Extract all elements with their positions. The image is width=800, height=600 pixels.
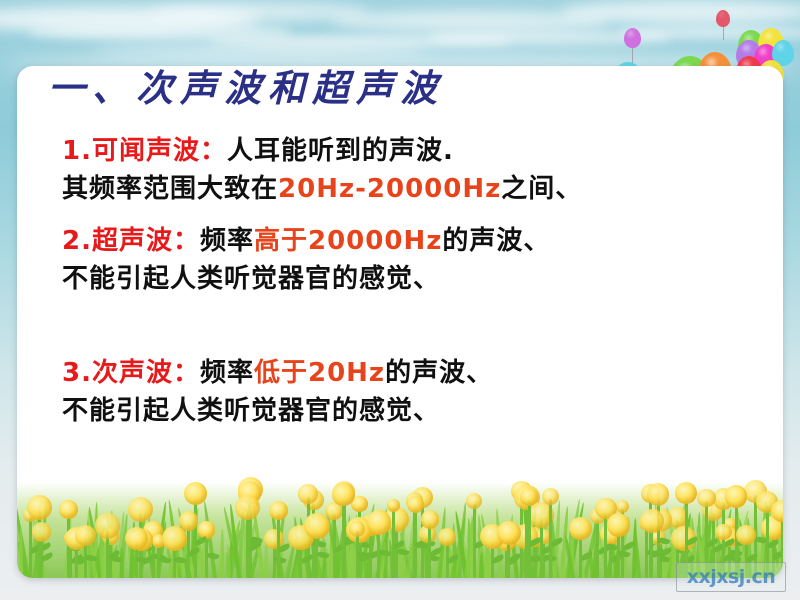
text-run-orange: 20Hz-20000Hz	[278, 174, 501, 204]
flower-bloom	[367, 510, 392, 535]
flower-bloom	[725, 485, 747, 507]
content-text-block: 1.可闻声波：人耳能听到的声波.其频率范围大致在20Hz-20000Hz之间、 …	[62, 132, 702, 430]
flower-stem	[246, 511, 249, 578]
text-line: 2.超声波：频率高于20000Hz的声波、	[62, 222, 702, 260]
text-line: 3.次声波：频率低于20Hz的声波、	[62, 354, 702, 392]
flower-bloom	[736, 525, 756, 545]
grass-blade	[18, 526, 22, 578]
flower-bloom	[421, 510, 440, 529]
flower-bloom	[298, 484, 318, 504]
flower-bloom	[349, 521, 365, 537]
flower-stem	[277, 513, 280, 578]
watermark-text: xxjxsj.cn	[687, 566, 776, 588]
text-run-orange: 低于20Hz	[254, 358, 385, 388]
watermark: xxjxsj.cn	[676, 562, 786, 592]
flower-bloom	[387, 499, 400, 512]
text-run-red: 2.超声波：	[62, 226, 200, 256]
flower-bloom	[607, 513, 630, 536]
flower-bloom	[304, 513, 330, 539]
flower-stem	[342, 498, 345, 578]
list-item: 3.次声波：频率低于20Hz的声波、不能引起人类听觉器官的感觉、	[62, 354, 702, 430]
flower-bloom	[125, 527, 148, 550]
text-run-blk: 不能引起人类听觉器官的感觉、	[62, 396, 440, 426]
page-title: 一、次声波和超声波	[48, 70, 444, 107]
flower-bloom	[198, 521, 216, 539]
flower-stem	[194, 497, 197, 578]
text-run-blk: 频率	[200, 358, 254, 388]
flower-stem	[473, 504, 476, 578]
text-run-orange: 高于20000Hz	[254, 226, 442, 256]
text-run-blk: 其频率范围大致在	[62, 174, 278, 204]
flower-bloom	[569, 517, 592, 540]
flower-bloom	[715, 524, 731, 540]
flower-bloom	[269, 501, 287, 519]
text-line: 其频率范围大致在20Hz-20000Hz之间、	[62, 170, 702, 208]
flower-bloom	[640, 509, 664, 533]
flower-stem	[549, 499, 552, 578]
flower-bloom	[497, 521, 521, 545]
list-item: 2.超声波：频率高于20000Hz的声波、不能引起人类听觉器官的感觉、	[62, 222, 702, 298]
spacer	[62, 208, 702, 222]
flower-bloom	[697, 489, 716, 508]
text-line: 不能引起人类听觉器官的感觉、	[62, 392, 702, 430]
flower-bloom	[675, 482, 697, 504]
text-run-blk: 不能引起人类听觉器官的感觉、	[62, 264, 440, 294]
spacer	[62, 298, 702, 354]
flower-bloom	[75, 525, 96, 546]
list-item: 1.可闻声波：人耳能听到的声波.其频率范围大致在20Hz-20000Hz之间、	[62, 132, 702, 208]
text-run-blk: 的声波、	[442, 226, 550, 256]
flower-bloom	[647, 483, 669, 505]
flower-bloom	[179, 511, 198, 530]
slide-canvas: 一、次声波和超声波 1.可闻声波：人耳能听到的声波.其频率范围大致在20Hz-2…	[0, 0, 800, 600]
flower-bloom	[407, 496, 424, 513]
flower-stem	[528, 500, 531, 578]
text-line: 不能引起人类听觉器官的感觉、	[62, 260, 702, 298]
flower-bloom	[95, 513, 121, 539]
text-run-red: 1.可闻声波：	[62, 136, 227, 166]
text-run-blk: 人耳能听到的声波.	[227, 136, 454, 166]
text-run-blk: 频率	[200, 226, 254, 256]
text-run-blk: 之间、	[501, 174, 582, 204]
text-run-red: 3.次声波：	[62, 358, 200, 388]
flower-bloom	[332, 483, 355, 506]
flower-border	[17, 458, 783, 578]
flower-bloom	[32, 522, 51, 541]
text-line: 1.可闻声波：人耳能听到的声波.	[62, 132, 702, 170]
text-run-blk: 的声波、	[385, 358, 493, 388]
flower-bloom	[59, 500, 78, 519]
